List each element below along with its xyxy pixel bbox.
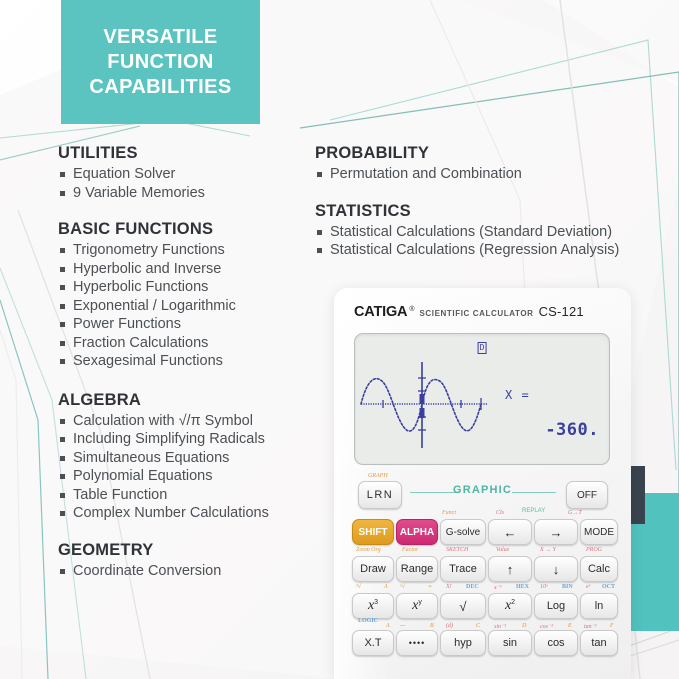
label-arctan: tan⁻¹ xyxy=(584,623,597,630)
off-button[interactable]: OFF xyxy=(566,481,608,509)
list-item-label: Polynomial Equations xyxy=(73,468,212,484)
x-value-label: X = xyxy=(505,388,530,402)
feature-list: Statistical Calculations (Standard Devia… xyxy=(315,223,675,260)
label-nth-root: ˣ√ xyxy=(400,584,405,590)
right-arrow-button[interactable]: → xyxy=(534,519,578,545)
off-label: OFF xyxy=(577,490,597,501)
section-heading: BASIC FUNCTIONS xyxy=(58,220,308,239)
list-item-label: Simultaneous Equations xyxy=(73,450,229,466)
list-item: Simultaneous Equations xyxy=(58,449,308,468)
label-d: D xyxy=(522,623,526,629)
bullet-icon xyxy=(60,285,65,290)
headline-line-2: FUNCTION xyxy=(89,50,231,75)
bullet-icon xyxy=(60,304,65,309)
label-arccos: cos⁻¹ xyxy=(540,623,553,630)
left-arrow-button[interactable]: ← xyxy=(488,519,532,545)
feature-group-algebra: ALGEBRA Calculation with √/π Symbol Incl… xyxy=(58,391,308,523)
divider-line-right xyxy=(512,492,556,493)
label-sketch: SKETCH xyxy=(446,547,468,553)
list-item-label: Fraction Calculations xyxy=(73,335,208,351)
label-graph: GRAPH xyxy=(368,473,388,479)
bullet-icon xyxy=(60,359,65,364)
feature-group-statistics: STATISTICS Statistical Calculations (Sta… xyxy=(315,202,675,260)
list-item: Hyperbolic Functions xyxy=(58,278,308,297)
x-cubed-button[interactable]: x3 xyxy=(352,593,394,619)
label-value: Value xyxy=(496,547,509,553)
lcd-value: -360. xyxy=(545,420,599,440)
bullet-icon xyxy=(60,419,65,424)
label-cls: Cls xyxy=(496,510,504,516)
brand-row: CATIGA ® SCIENTIFIC CALCULATOR CS-121 xyxy=(354,304,616,320)
label-funct: Funct xyxy=(442,510,456,516)
section-heading: UTILITIES xyxy=(58,144,308,163)
sin-button[interactable]: sin xyxy=(488,630,532,656)
list-item-label: Exponential / Logarithmic xyxy=(73,298,236,314)
list-item-label: Equation Solver xyxy=(73,166,175,182)
x-power-y-exponent: y xyxy=(418,599,422,606)
dots-button[interactable]: •••• xyxy=(396,630,438,656)
bullet-icon xyxy=(60,322,65,327)
hyp-button[interactable]: hyp xyxy=(440,630,486,656)
list-item-label: Statistical Calculations (Regression Ana… xyxy=(330,242,619,258)
label-ten-pow: 10ˣ xyxy=(540,584,548,590)
tan-button[interactable]: tan xyxy=(580,630,618,656)
arrow-left-icon: ← xyxy=(504,526,517,539)
label-x-to-y: X → Y xyxy=(540,547,556,553)
bullet-icon xyxy=(60,172,65,177)
label-bin: BIN xyxy=(562,584,573,590)
range-button[interactable]: Range xyxy=(396,556,438,582)
feature-group-probability: PROBABILITY Permutation and Combination xyxy=(315,144,675,184)
lrn-button[interactable]: LRN xyxy=(358,481,402,509)
keypad: GRAPH LRN GRAPHIC OFF Funct Cls REPLAY G… xyxy=(346,470,619,658)
trace-button[interactable]: Trace xyxy=(440,556,486,582)
model-number: CS-121 xyxy=(539,304,584,319)
label-d-paren: (d) xyxy=(446,623,453,629)
graphic-section-label: GRAPHIC xyxy=(453,484,512,496)
label-cube-root: ³√ xyxy=(356,584,361,590)
cos-button[interactable]: cos xyxy=(534,630,578,656)
label-arcsin: sin⁻¹ xyxy=(494,623,506,630)
label-e: E xyxy=(568,623,572,629)
hyp-label: hyp xyxy=(454,637,472,649)
bullet-icon xyxy=(60,456,65,461)
list-item-label: Hyperbolic and Inverse xyxy=(73,261,221,277)
label-prog: PROG xyxy=(586,547,602,553)
list-item-label: Statistical Calculations (Standard Devia… xyxy=(330,224,612,240)
list-item: Hyperbolic and Inverse xyxy=(58,260,308,279)
log-button[interactable]: Log xyxy=(534,593,578,619)
label-dec: DEC xyxy=(466,584,479,590)
keypad-row-5: LOGIC A — B (d) C sin⁻¹ D cos⁻¹ E tan⁻¹ … xyxy=(346,621,619,658)
list-item-label: Hyperbolic Functions xyxy=(73,279,208,295)
calc-button[interactable]: Calc xyxy=(580,556,618,582)
list-item: Table Function xyxy=(58,486,308,505)
draw-label: Draw xyxy=(360,563,386,575)
section-heading: ALGEBRA xyxy=(58,391,308,410)
list-item-label: 9 Variable Memories xyxy=(73,185,205,201)
mode-button[interactable]: MODE xyxy=(580,519,618,545)
section-heading: PROBABILITY xyxy=(315,144,675,163)
range-label: Range xyxy=(401,563,433,575)
shift-label: SHIFT xyxy=(359,527,388,538)
arrow-down-icon: ↓ xyxy=(553,563,560,576)
shift-button[interactable]: SHIFT xyxy=(352,519,394,545)
list-item-label: Permutation and Combination xyxy=(330,166,522,182)
label-oct: OCT xyxy=(602,584,615,590)
list-item-label: Including Simplifying Radicals xyxy=(73,431,265,447)
arrow-up-icon: ↑ xyxy=(507,563,514,576)
label-hex: HEX xyxy=(516,584,529,590)
poster-page: VERSATILE FUNCTION CAPABILITIES UTILITIE… xyxy=(0,0,679,679)
alpha-button[interactable]: ALPHA xyxy=(396,519,438,545)
bullet-icon xyxy=(60,437,65,442)
g-solve-label: G-solve xyxy=(446,527,480,538)
list-item: Calculation with √/π Symbol xyxy=(58,412,308,431)
list-item-label: Table Function xyxy=(73,487,167,503)
label-factorial: X! xyxy=(446,584,452,590)
bullet-icon xyxy=(60,511,65,516)
bullet-icon xyxy=(60,191,65,196)
label-a2: A xyxy=(386,623,390,629)
lrn-label: LRN xyxy=(367,489,394,501)
section-heading: STATISTICS xyxy=(315,202,675,221)
list-item: Statistical Calculations (Standard Devia… xyxy=(315,223,675,242)
keypad-row-2: Funct Cls REPLAY G→T SHIFT ALPHA G-solve… xyxy=(346,510,619,547)
label-c: C xyxy=(476,623,480,629)
label-g-to-t: G→T xyxy=(568,510,582,516)
ln-label: ln xyxy=(595,600,604,612)
list-item: Equation Solver xyxy=(58,165,308,184)
label-factor: Factor xyxy=(402,547,418,553)
x-power-y-button[interactable]: xy xyxy=(396,593,438,619)
bullet-icon xyxy=(60,248,65,253)
list-item: Power Functions xyxy=(58,315,308,334)
x-t-button[interactable]: X.T xyxy=(352,630,394,656)
list-item-label: Sexagesimal Functions xyxy=(73,353,223,369)
keypad-row-graphic: GRAPH LRN GRAPHIC OFF xyxy=(346,470,619,510)
feature-list: Trigonometry Functions Hyperbolic and In… xyxy=(58,241,308,371)
log-label: Log xyxy=(547,600,565,612)
feature-list: Equation Solver 9 Variable Memories xyxy=(58,165,308,202)
list-item-label: Power Functions xyxy=(73,316,181,332)
calc-label: Calc xyxy=(588,563,610,575)
calculator-device: CATIGA ® SCIENTIFIC CALCULATOR CS-121 D xyxy=(334,288,631,679)
up-arrow-button[interactable]: ↑ xyxy=(488,556,532,582)
list-item: Coordinate Conversion xyxy=(58,562,308,581)
keypad-row-3: Zoom Org Factor SKETCH Value X → Y PROG … xyxy=(346,547,619,584)
alpha-label: ALPHA xyxy=(400,527,434,538)
feature-group-utilities: UTILITIES Equation Solver 9 Variable Mem… xyxy=(58,144,308,202)
sin-label: sin xyxy=(503,637,517,649)
cos-label: cos xyxy=(547,637,564,649)
bullet-icon xyxy=(317,248,322,253)
list-item: Polynomial Equations xyxy=(58,467,308,486)
draw-button[interactable]: Draw xyxy=(352,556,394,582)
feature-list: Permutation and Combination xyxy=(315,165,675,184)
feature-column-left: UTILITIES Equation Solver 9 Variable Mem… xyxy=(58,144,308,598)
mode-label: MODE xyxy=(584,527,614,538)
feature-list: Coordinate Conversion xyxy=(58,562,308,581)
headline-line-1: VERSATILE xyxy=(89,25,231,50)
label-equiv: ≡ xyxy=(428,584,432,590)
list-item: Exponential / Logarithmic xyxy=(58,297,308,316)
label-reciprocal: x⁻¹ xyxy=(494,584,502,591)
ln-button[interactable]: ln xyxy=(580,593,618,619)
label-logic: LOGIC xyxy=(358,618,378,624)
headline-block: VERSATILE FUNCTION CAPABILITIES xyxy=(61,0,260,124)
bullet-icon xyxy=(60,569,65,574)
corner-dark-accent xyxy=(629,466,645,524)
list-item: Complex Number Calculations xyxy=(58,504,308,523)
bullet-icon xyxy=(317,172,322,177)
list-item-label: Complex Number Calculations xyxy=(73,505,269,521)
x-cubed-exponent: 3 xyxy=(374,599,378,606)
list-item-label: Coordinate Conversion xyxy=(73,563,221,579)
section-heading: GEOMETRY xyxy=(58,541,308,560)
bullet-icon xyxy=(60,493,65,498)
brand-subtitle: SCIENTIFIC CALCULATOR xyxy=(419,309,533,318)
headline-line-3: CAPABILITIES xyxy=(89,75,231,100)
feature-column-right: PROBABILITY Permutation and Combination … xyxy=(315,144,675,278)
trace-label: Trace xyxy=(449,563,477,575)
list-item-label: Calculation with √/π Symbol xyxy=(73,413,253,429)
label-zoom-org: Zoom Org xyxy=(356,547,381,553)
list-item-label: Trigonometry Functions xyxy=(73,242,225,258)
label-e-pow: eˣ xyxy=(586,584,590,590)
list-item: Statistical Calculations (Regression Ana… xyxy=(315,241,675,260)
x-squared-exponent: 2 xyxy=(511,599,515,606)
bullet-icon xyxy=(60,474,65,479)
list-item: Permutation and Combination xyxy=(315,165,675,184)
label-a: A xyxy=(384,584,388,590)
bullet-icon xyxy=(317,230,322,235)
list-item: 9 Variable Memories xyxy=(58,184,308,203)
feature-list: Calculation with √/π Symbol Including Si… xyxy=(58,412,308,523)
arrow-right-icon: → xyxy=(550,526,563,539)
down-arrow-button[interactable]: ↓ xyxy=(534,556,578,582)
feature-group-geometry: GEOMETRY Coordinate Conversion xyxy=(58,541,308,581)
x-squared-button[interactable]: x2 xyxy=(488,593,532,619)
dots-icon: •••• xyxy=(409,638,426,648)
tan-label: tan xyxy=(591,637,606,649)
g-solve-button[interactable]: G-solve xyxy=(440,519,486,545)
label-b: B xyxy=(430,623,434,629)
sqrt-icon: √ xyxy=(459,599,466,614)
feature-group-basic-functions: BASIC FUNCTIONS Trigonometry Functions H… xyxy=(58,220,308,371)
sine-graph xyxy=(359,352,489,456)
list-item: Fraction Calculations xyxy=(58,334,308,353)
bullet-icon xyxy=(60,341,65,346)
bullet-icon xyxy=(60,267,65,272)
x-t-label: X.T xyxy=(364,637,381,649)
list-item: Trigonometry Functions xyxy=(58,241,308,260)
keypad-row-4: ³√ A ˣ√ ≡ X! DEC x⁻¹ HEX 10ˣ BIN eˣ OCT … xyxy=(346,584,619,621)
square-root-button[interactable]: √ xyxy=(440,593,486,619)
label-dash: — xyxy=(400,623,405,629)
list-item: Sexagesimal Functions xyxy=(58,352,308,371)
lcd-screen: D xyxy=(354,333,610,465)
label-f: F xyxy=(610,623,614,629)
brand-name: CATIGA xyxy=(354,304,407,320)
registered-mark-icon: ® xyxy=(409,306,414,313)
label-replay: REPLAY xyxy=(522,508,545,514)
list-item: Including Simplifying Radicals xyxy=(58,430,308,449)
